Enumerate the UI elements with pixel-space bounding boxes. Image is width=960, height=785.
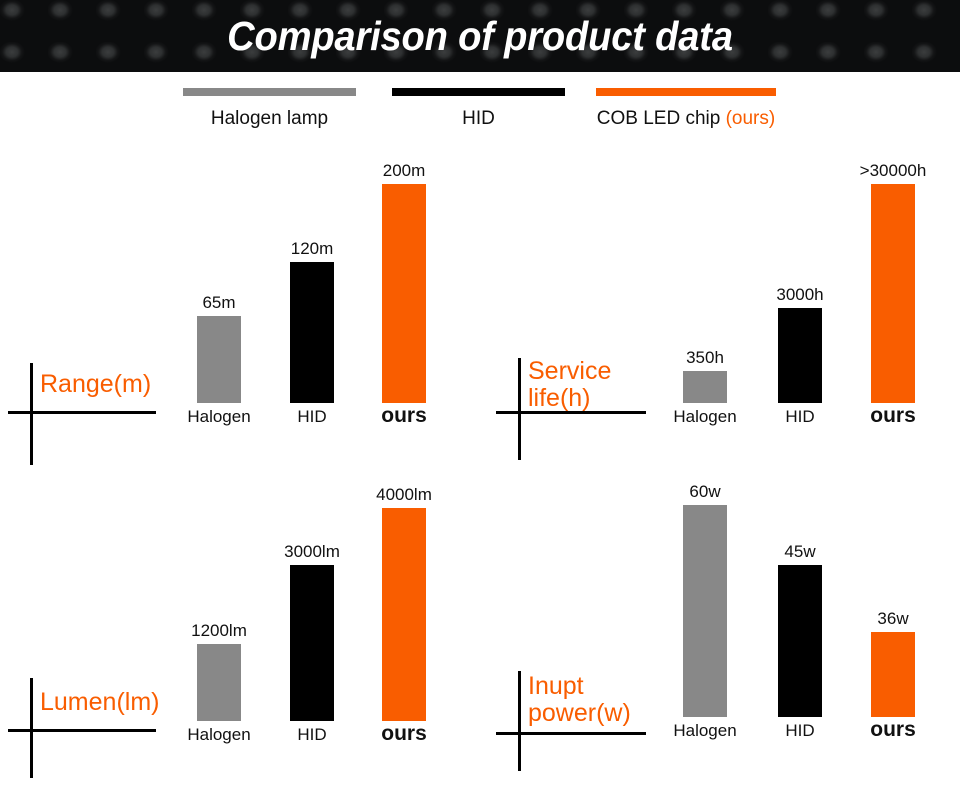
chart-lumen: Lumen(lm) 1200lm Halogen 3000lm HID 4000… [0, 465, 480, 785]
bar-value-ours: 36w [877, 609, 908, 629]
bar-value-halogen: 60w [689, 482, 720, 502]
bar-category-hid: HID [297, 407, 326, 427]
bar-rect-ours [871, 632, 915, 717]
bar-category-halogen: Halogen [673, 721, 736, 741]
bar-category-ours: ours [870, 404, 916, 428]
bar-category-hid: HID [297, 725, 326, 745]
legend-ours-tag: (ours) [726, 108, 776, 129]
y-axis-line [518, 671, 521, 771]
bar-value-halogen: 65m [202, 293, 235, 313]
x-axis-line [496, 732, 646, 735]
bar-rect-hid [290, 262, 334, 403]
bar-value-hid: 3000h [776, 285, 823, 305]
bar-value-ours: >30000h [860, 161, 927, 181]
y-axis-line [30, 363, 33, 465]
chart-input-power: Inupt power(w) 60w Halogen 45w HID 36w o… [480, 465, 960, 785]
bar-value-halogen: 350h [686, 348, 724, 368]
bar-rect-hid [778, 565, 822, 717]
axis-title-range: Range(m) [40, 371, 151, 398]
bar-rect-ours [382, 508, 426, 721]
legend-item-hid: HID [392, 88, 565, 130]
bar-value-hid: 3000lm [284, 542, 340, 562]
bar-value-ours: 4000lm [376, 485, 432, 505]
legend: Halogen lamp HID COB LED chip (ours) [0, 88, 960, 144]
legend-item-halogen-lamp: Halogen lamp [183, 88, 356, 130]
bar-rect-halogen [683, 505, 727, 717]
chart-range: Range(m) 65m Halogen 120m HID 200m ours [0, 150, 480, 470]
bar-rect-halogen [683, 371, 727, 403]
axis-title-service-life: Service life(h) [528, 358, 611, 412]
bar-category-ours: ours [870, 718, 916, 742]
legend-label-cob-led: COB LED chip (ours) [596, 108, 776, 130]
legend-label-hid: HID [392, 108, 565, 130]
bar-value-hid: 120m [291, 239, 334, 259]
bar-rect-hid [778, 308, 822, 403]
x-axis-line [8, 411, 156, 414]
legend-swatch-cob-led [596, 88, 776, 96]
bar-rect-ours [871, 184, 915, 403]
bar-rect-ours [382, 184, 426, 403]
bar-category-ours: ours [381, 722, 427, 746]
bar-category-hid: HID [785, 721, 814, 741]
legend-swatch-hid [392, 88, 565, 96]
bar-category-hid: HID [785, 407, 814, 427]
y-axis-line [518, 358, 521, 460]
bar-category-halogen: Halogen [187, 407, 250, 427]
bar-value-halogen: 1200lm [191, 621, 247, 641]
bar-rect-hid [290, 565, 334, 721]
bar-value-hid: 45w [784, 542, 815, 562]
header-banner: Comparison of product data [0, 0, 960, 72]
bar-category-halogen: Halogen [673, 407, 736, 427]
x-axis-line [8, 729, 156, 732]
bar-value-ours: 200m [383, 161, 426, 181]
legend-item-cob-led-chip: COB LED chip (ours) [596, 88, 776, 130]
axis-title-lumen: Lumen(lm) [40, 689, 159, 716]
axis-title-input-power: Inupt power(w) [528, 673, 631, 727]
legend-swatch-halogen [183, 88, 356, 96]
bar-category-ours: ours [381, 404, 427, 428]
bar-rect-halogen [197, 316, 241, 403]
bar-category-halogen: Halogen [187, 725, 250, 745]
y-axis-line [30, 678, 33, 778]
page-title: Comparison of product data [34, 0, 927, 72]
legend-label-halogen: Halogen lamp [183, 108, 356, 130]
chart-service-life: Service life(h) 350h Halogen 3000h HID >… [480, 150, 960, 470]
bar-rect-halogen [197, 644, 241, 721]
